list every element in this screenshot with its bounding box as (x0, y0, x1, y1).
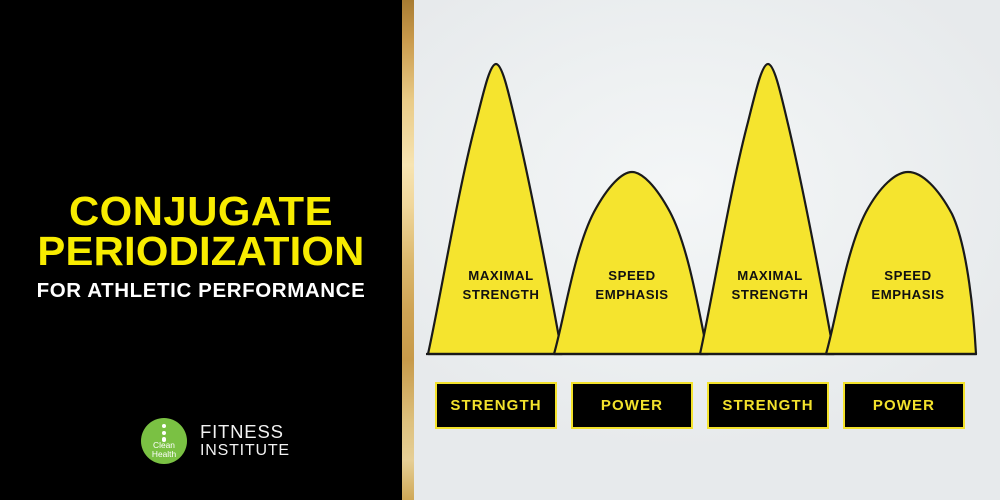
wave-label-1: MAXIMAL STRENGTH (436, 266, 566, 304)
wave-area-2 (554, 172, 708, 354)
phase-box-2[interactable]: POWER (571, 382, 693, 429)
infographic-canvas: CONJUGATE PERIODIZATION FOR ATHLETIC PER… (0, 0, 1000, 500)
brand-logo: Clean Health FITNESS INSTITUTE (141, 418, 290, 464)
left-title-panel: CONJUGATE PERIODIZATION FOR ATHLETIC PER… (0, 0, 402, 500)
phase-box-1-label: STRENGTH (450, 397, 541, 414)
phase-box-1[interactable]: STRENGTH (435, 382, 557, 429)
brand-wordmark-line-1: FITNESS (200, 422, 290, 442)
page-title-line-2: PERIODIZATION (0, 232, 406, 272)
phase-box-4-label: POWER (873, 397, 935, 414)
phase-box-4[interactable]: POWER (843, 382, 965, 429)
wave-label-1-line-1: MAXIMAL (436, 266, 566, 285)
phase-box-2-label: POWER (601, 397, 663, 414)
title-block: CONJUGATE PERIODIZATION FOR ATHLETIC PER… (0, 192, 402, 303)
wave-label-4-line-1: SPEED (842, 266, 974, 285)
wave-area-1 (428, 64, 562, 354)
wave-label-3: MAXIMAL STRENGTH (705, 266, 835, 304)
wave-label-1-line-2: STRENGTH (436, 285, 566, 304)
wave-label-2: SPEED EMPHASIS (567, 266, 697, 304)
logo-mark-text-line-2: Health (141, 450, 187, 459)
wave-area-3 (700, 64, 834, 354)
wave-label-2-line-1: SPEED (567, 266, 697, 285)
wave-label-2-line-2: EMPHASIS (567, 285, 697, 304)
wave-label-3-line-2: STRENGTH (705, 285, 835, 304)
page-title-line-1: CONJUGATE (0, 192, 406, 232)
phase-box-3[interactable]: STRENGTH (707, 382, 829, 429)
wave-area-4 (826, 172, 976, 354)
wave-label-4: SPEED EMPHASIS (842, 266, 974, 304)
phase-box-3-label: STRENGTH (722, 397, 813, 414)
brand-wordmark-line-2: INSTITUTE (200, 442, 290, 459)
wave-label-3-line-1: MAXIMAL (705, 266, 835, 285)
gold-gradient-divider (402, 0, 414, 500)
page-subtitle: FOR ATHLETIC PERFORMANCE (0, 279, 402, 303)
clean-health-circle-icon: Clean Health (141, 418, 187, 464)
logo-mark-text: Clean Health (141, 441, 187, 459)
brand-wordmark: FITNESS INSTITUTE (200, 422, 290, 459)
wave-label-4-line-2: EMPHASIS (842, 285, 974, 304)
logo-dots-icon (141, 424, 187, 442)
